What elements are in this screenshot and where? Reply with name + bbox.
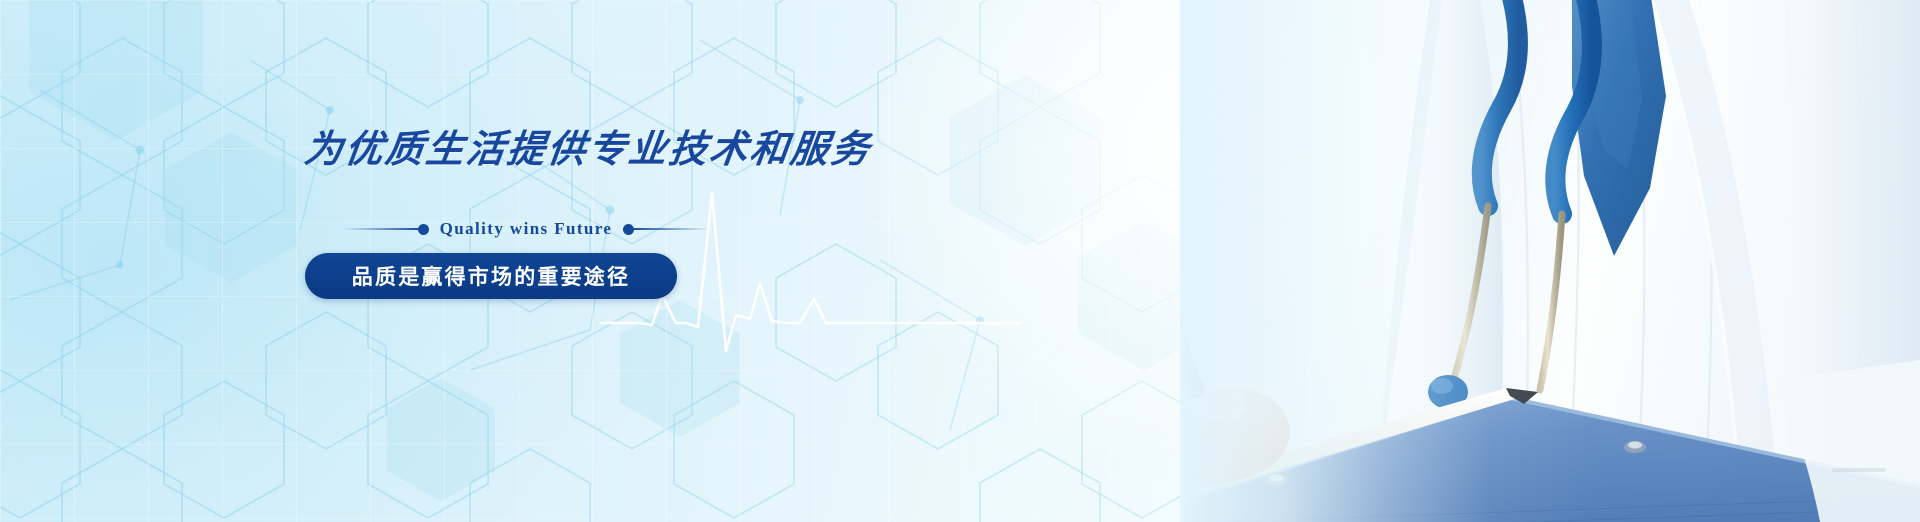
subtitle-rule-left: [343, 228, 418, 230]
medical-hero-banner: 为优质生活提供专业技术和服务 Quality wins Future 品质是赢得…: [0, 0, 1920, 522]
bullet-dot-left-icon: [418, 224, 429, 235]
photo-left-fade: [1180, 0, 1920, 522]
page-title: 为优质生活提供专业技术和服务: [302, 118, 876, 173]
banner-text-block: 为优质生活提供专业技术和服务 Quality wins Future 品质是赢得…: [305, 118, 872, 299]
subtitle-row: Quality wins Future: [343, 219, 709, 239]
cta-button-label: 品质是赢得市场的重要途径: [352, 261, 630, 291]
subtitle-english: Quality wins Future: [429, 219, 624, 239]
doctor-photo: [1180, 0, 1920, 522]
cta-button[interactable]: 品质是赢得市场的重要途径: [305, 253, 677, 299]
bullet-dot-right-icon: [623, 224, 634, 235]
subtitle-rule-right: [634, 228, 709, 230]
